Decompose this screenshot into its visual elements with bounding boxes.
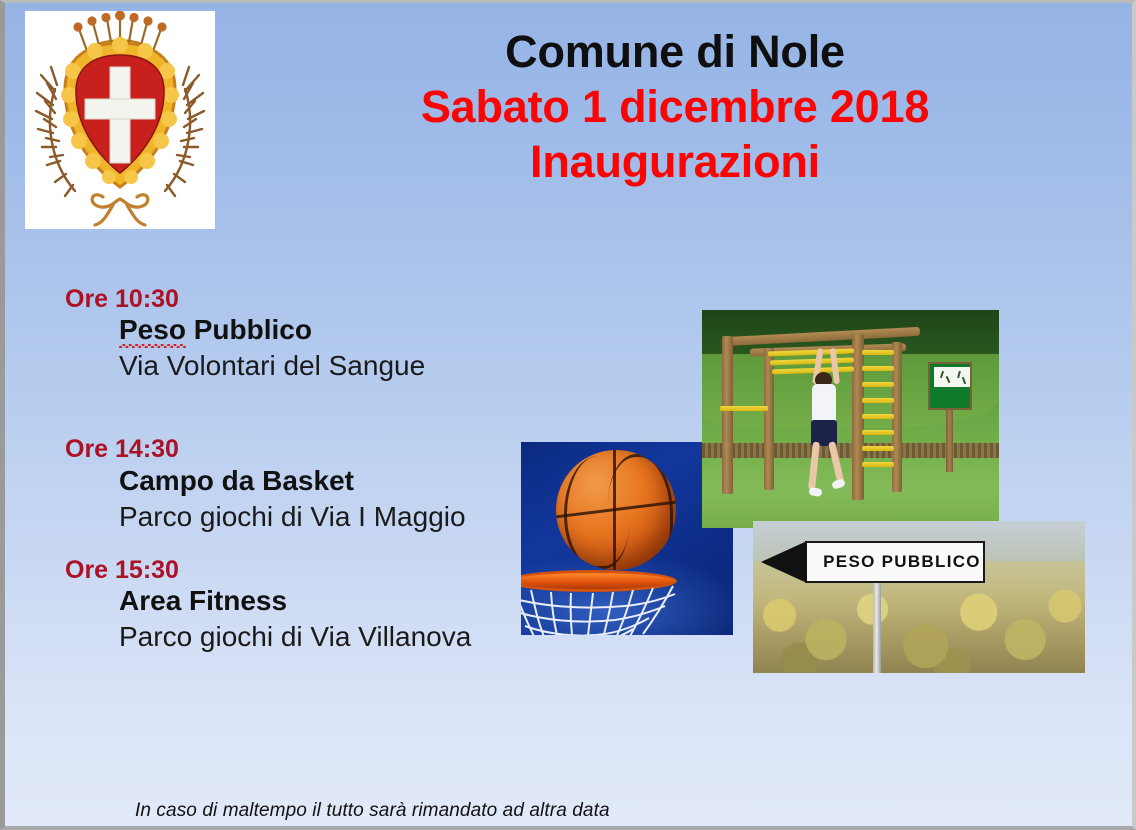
sign-label: PESO PUBBLICO	[809, 552, 981, 572]
weather-note: In caso di maltempo il tutto sarà rimand…	[135, 800, 610, 822]
event-date: Sabato 1 dicembre 2018	[245, 80, 1105, 135]
event-time: Ore 10:30	[65, 286, 535, 312]
event-time: Ore 14:30	[65, 436, 535, 462]
climb-rung	[862, 414, 894, 419]
schedule-item: Ore 14:30 Campo da Basket Parco giochi d…	[65, 436, 535, 534]
event-name-rest: Pubblico	[186, 314, 312, 345]
climb-rung	[862, 430, 894, 435]
climb-rung	[862, 382, 894, 387]
event-subject: Inaugurazioni	[245, 135, 1105, 190]
event-name: Peso Pubblico	[119, 312, 312, 348]
title-block: Comune di Nole Sabato 1 dicembre 2018 In…	[245, 25, 1105, 190]
schedule-item: Ore 10:30 Peso Pubblico Via Volontari de…	[65, 286, 535, 384]
board-poster	[934, 367, 970, 387]
left-arrow-icon	[761, 541, 807, 583]
basketball-ball	[556, 450, 676, 570]
event-place: Parco giochi di Via I Maggio	[119, 499, 535, 535]
climb-rung	[862, 446, 894, 451]
spacer	[65, 535, 535, 557]
event-time: Ore 15:30	[65, 557, 535, 583]
ladder-rung-low	[720, 406, 768, 411]
page-title: Comune di Nole	[245, 25, 1105, 80]
misspelled-word: Peso	[119, 314, 186, 345]
wooden-fence	[702, 443, 999, 458]
event-place: Via Volontari del Sangue	[119, 348, 535, 384]
information-board	[928, 362, 972, 410]
climb-rung	[862, 398, 894, 403]
board-post	[946, 410, 953, 472]
schedule-item: Ore 15:30 Area Fitness Parco giochi di V…	[65, 557, 535, 655]
schedule-list: Ore 10:30 Peso Pubblico Via Volontari de…	[65, 286, 535, 655]
basketball-net	[521, 584, 679, 635]
climb-rung	[862, 350, 894, 355]
presentation-slide: Comune di Nole Sabato 1 dicembre 2018 In…	[0, 0, 1136, 830]
climb-rung	[862, 462, 894, 467]
event-name: Campo da Basket	[119, 463, 354, 499]
event-name: Area Fitness	[119, 583, 287, 619]
comune-coat-of-arms	[25, 11, 215, 229]
person-torso	[812, 384, 836, 424]
direction-sign-plate: PESO PUBBLICO	[805, 541, 985, 583]
support-post-left	[722, 336, 733, 494]
event-place: Parco giochi di Via Villanova	[119, 619, 535, 655]
climb-rung	[862, 366, 894, 371]
coat-of-arms-graphic	[25, 11, 215, 229]
spacer	[65, 384, 535, 436]
sign-post	[873, 583, 881, 673]
fitness-area-photo	[702, 310, 999, 528]
ribbon-bow	[92, 195, 148, 225]
peso-pubblico-sign-photo: PESO PUBBLICO	[753, 521, 1085, 673]
